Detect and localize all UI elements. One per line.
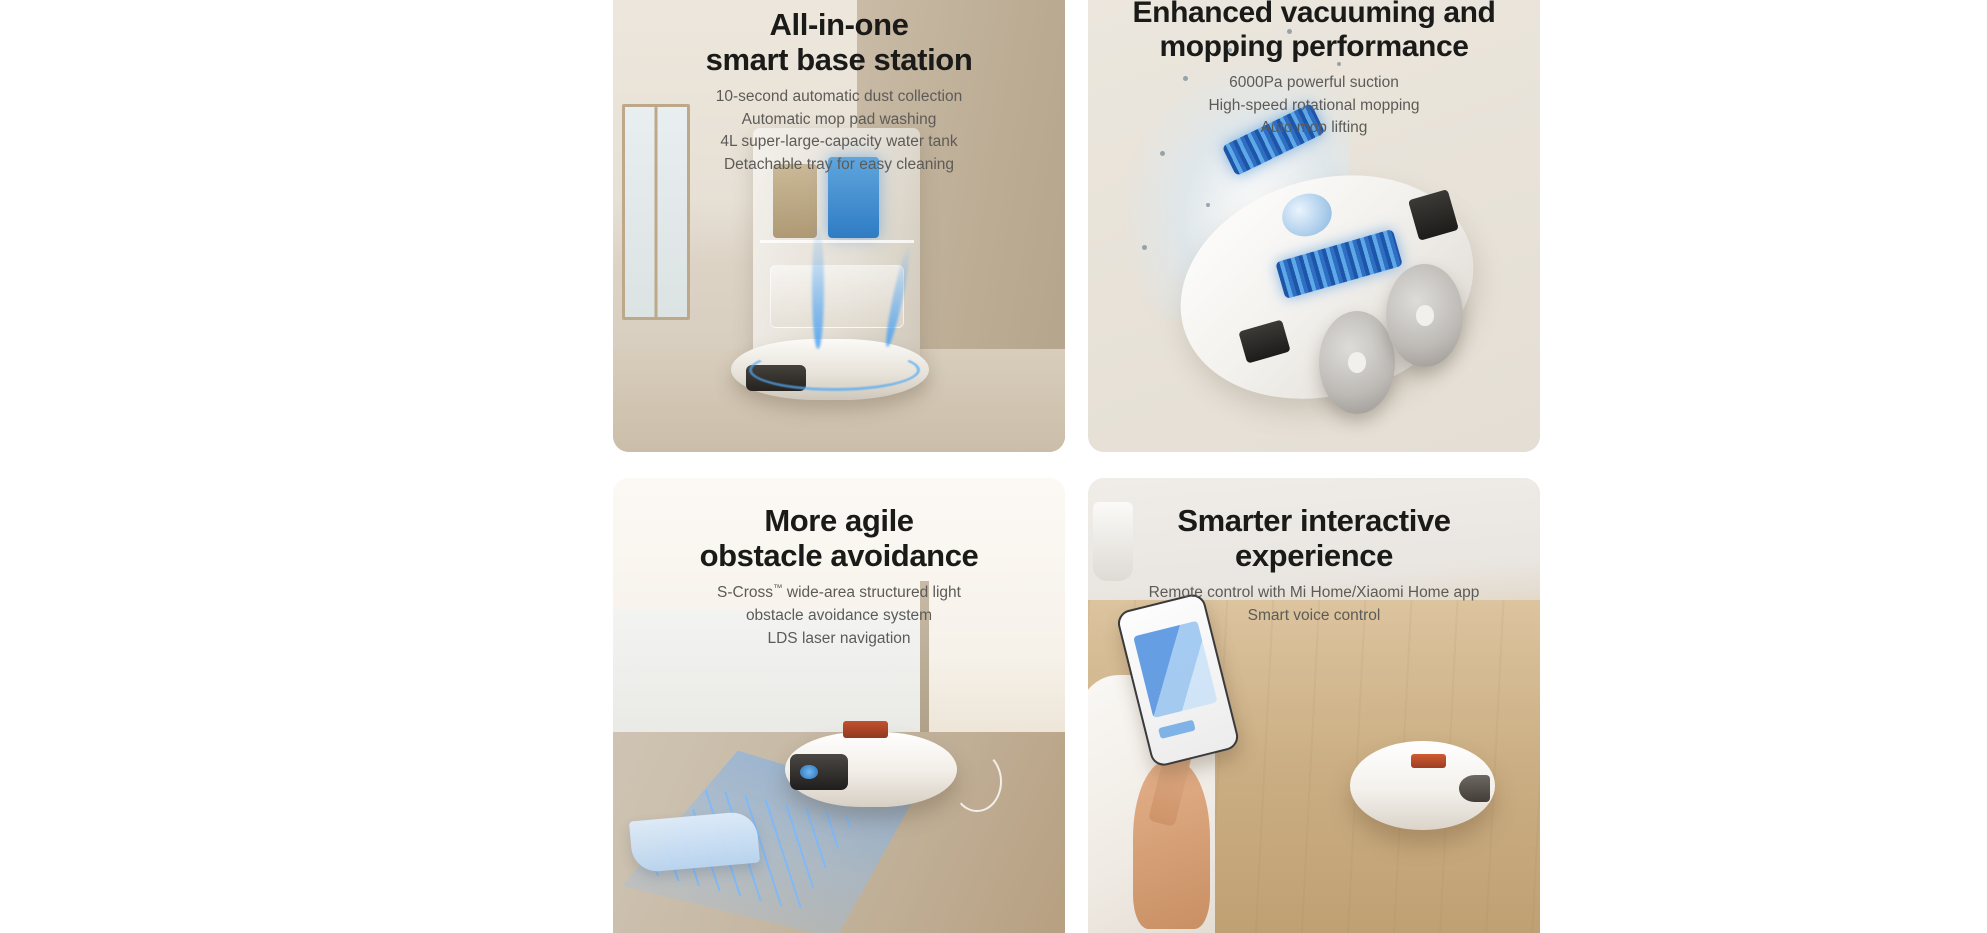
card-subtitle: 6000Pa powerful suction High-speed rotat…	[1100, 72, 1528, 139]
sensor-wave-icon	[952, 751, 1002, 812]
feature-card-all-in-one-smart-base-station[interactable]: All-in-one smart base station 10-second …	[613, 0, 1065, 452]
card-subtitle: 10-second automatic dust collection Auto…	[625, 86, 1053, 176]
app-floor-map	[1134, 621, 1218, 719]
mop-pad	[1386, 264, 1463, 367]
structured-light-camera	[790, 754, 848, 790]
feature-card-more-agile-obstacle-avoidance[interactable]: More agile obstacle avoidance S-Cross™ w…	[613, 478, 1065, 933]
card-text-block: All-in-one smart base station 10-second …	[613, 8, 1065, 176]
dock-shelf	[760, 240, 914, 243]
card-text-block: Enhanced vacuuming and mopping performan…	[1088, 0, 1540, 140]
feature-card-smarter-interactive-experience[interactable]: Smarter interactive experience Remote co…	[1088, 478, 1540, 933]
brand-name: S-Cross	[717, 585, 773, 602]
sensor-band	[1459, 775, 1491, 802]
feature-card-grid: All-in-one smart base station 10-second …	[613, 0, 1540, 922]
feature-grid-page: All-in-one smart base station 10-second …	[0, 0, 1987, 933]
card-title: More agile obstacle avoidance	[625, 504, 1053, 573]
lds-laser-turret	[1411, 754, 1446, 768]
airflow-swirl-icon	[749, 349, 921, 391]
card-text-block: Smarter interactive experience Remote co…	[1088, 504, 1540, 627]
app-control-bar	[1158, 720, 1196, 739]
robot-vacuum	[1350, 741, 1495, 830]
card-title: Enhanced vacuuming and mopping performan…	[1100, 0, 1528, 63]
airflow-jet-icon	[812, 226, 824, 348]
dust-particle	[1206, 203, 1210, 207]
mop-pad	[1319, 311, 1396, 414]
card-subtitle: Remote control with Mi Home/Xiaomi Home …	[1100, 582, 1528, 627]
trademark-symbol: ™	[773, 583, 783, 594]
robot-vacuum	[785, 732, 957, 807]
card-text-block: More agile obstacle avoidance S-Cross™ w…	[613, 504, 1065, 650]
card-title: Smarter interactive experience	[1100, 504, 1528, 573]
detachable-tray	[770, 265, 904, 329]
feature-card-enhanced-vacuuming-and-mopping-performance[interactable]: Enhanced vacuuming and mopping performan…	[1088, 0, 1540, 452]
lds-laser-turret	[843, 721, 888, 738]
card-subtitle: S-Cross™ wide-area structured light obst…	[625, 582, 1053, 650]
card-title: All-in-one smart base station	[625, 8, 1053, 77]
